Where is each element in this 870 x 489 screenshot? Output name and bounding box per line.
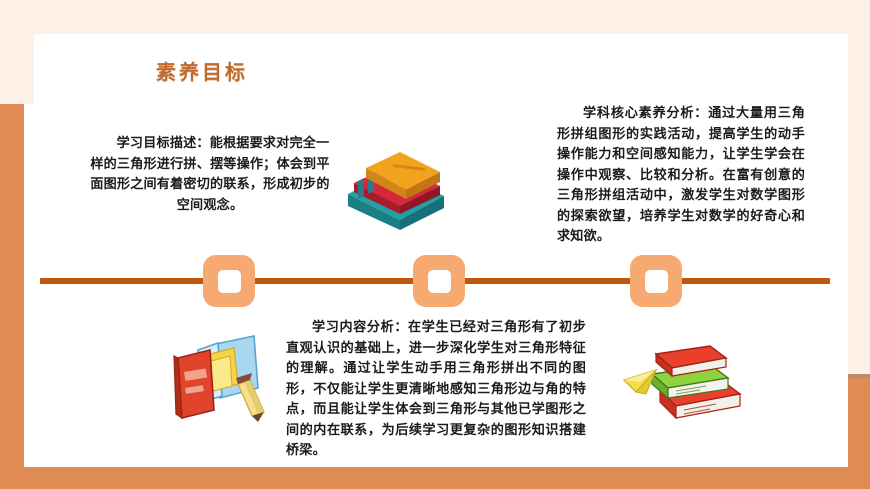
frame-left-accent-band [0, 104, 24, 489]
page-title: 素养目标 [156, 56, 248, 85]
timeline-node-3[interactable] [630, 255, 682, 307]
timeline-node-1[interactable] [203, 255, 255, 307]
frame-bottom-accent-band [0, 467, 848, 489]
core-competency-text: 学科核心素养分析：通过大量用三角形拼组图形的实践活动，提高学生的动手操作能力和空… [557, 104, 805, 248]
books-stack-isometric-icon [340, 138, 448, 230]
frame-left-pale-band [0, 0, 34, 104]
timeline-node-inner-square [428, 270, 451, 293]
slide-canvas: 素养目标 学习目标描述：能根据要求对完全一样的三角形进行拼、摆等操作；体会到平面… [0, 0, 870, 489]
frame-right-pale-band [848, 0, 870, 378]
books-with-paper-plane-icon [622, 336, 746, 428]
frame-right-accent-band [848, 378, 870, 489]
timeline-node-2[interactable] [413, 255, 465, 307]
books-with-pencil-icon [172, 326, 278, 422]
frame-top-band [34, 0, 870, 34]
timeline-node-inner-square [645, 270, 668, 293]
timeline-node-inner-square [218, 270, 241, 293]
content-analysis-text: 学习内容分析：在学生已经对三角形有了初步直观认识的基础上，进一步深化学生对三角形… [286, 318, 586, 462]
learning-goal-text: 学习目标描述：能根据要求对完全一样的三角形进行拼、摆等操作；体会到平面图形之间有… [86, 134, 334, 216]
